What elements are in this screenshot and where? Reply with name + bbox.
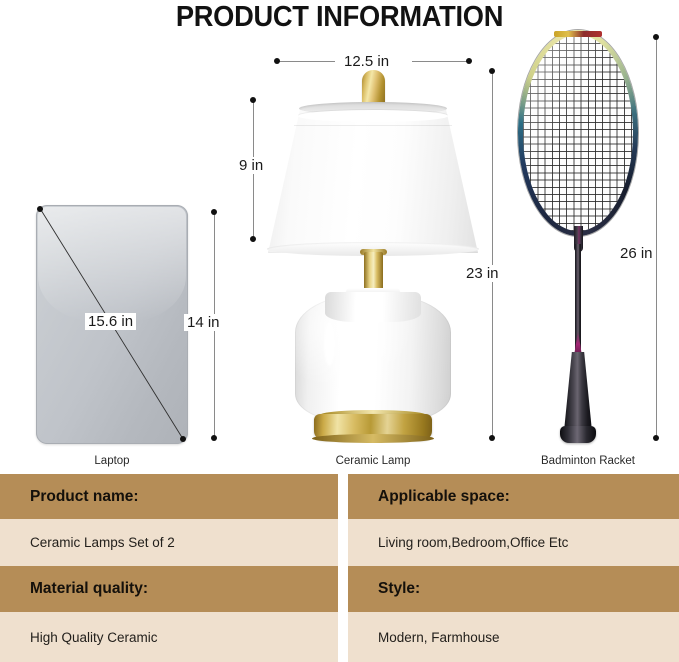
lamp-highlight-b	[346, 328, 354, 364]
racket-logo	[554, 31, 602, 37]
lamp-shade-seam	[294, 125, 452, 126]
ceramic-lamp-illustration	[268, 70, 478, 448]
racket-length-line	[656, 37, 657, 438]
badminton-racket-caption: Badminton Racket	[528, 455, 648, 467]
spec-table-column-left: Product name: Ceramic Lamps Set of 2 Mat…	[0, 474, 338, 662]
lamp-harp	[364, 252, 383, 292]
spec-label-style: Style:	[348, 566, 679, 612]
spec-label-applicable-space: Applicable space:	[348, 474, 679, 519]
laptop-height-label: 14 in	[184, 314, 223, 331]
lamp-shade-top-rim	[298, 110, 448, 122]
lamp-width-line-left	[277, 61, 335, 62]
lamp-gold-base-lip	[312, 434, 434, 443]
spec-label-material-quality: Material quality:	[0, 566, 338, 612]
laptop-height-dot-top	[211, 209, 217, 215]
laptop-caption: Laptop	[52, 455, 172, 467]
lamp-shade-height-dot-bottom	[250, 236, 256, 242]
lamp-ceramic-neck	[325, 292, 421, 322]
spec-table-column-right: Applicable space: Living room,Bedroom,Of…	[348, 474, 679, 662]
lamp-width-label: 12.5 in	[341, 53, 392, 70]
lamp-finial	[362, 70, 385, 105]
lamp-shade-height-dot-top	[250, 97, 256, 103]
spec-value-style: Modern, Farmhouse	[348, 612, 679, 662]
lamp-total-height-label: 23 in	[463, 265, 502, 282]
racket-head	[518, 30, 638, 236]
spec-table: Product name: Ceramic Lamps Set of 2 Mat…	[0, 474, 679, 662]
lamp-shade-height-label: 9 in	[236, 157, 266, 174]
lamp-width-line-right	[412, 61, 468, 62]
lamp-width-dot-right	[466, 58, 472, 64]
lamp-width-dot-left	[274, 58, 280, 64]
racket-length-dot-bottom	[653, 435, 659, 441]
racket-string-bed	[523, 35, 633, 231]
spec-value-material-quality: High Quality Ceramic	[0, 612, 338, 662]
badminton-racket-illustration	[512, 30, 644, 442]
lamp-total-height-dot-top	[489, 68, 495, 74]
ceramic-lamp-caption: Ceramic Lamp	[313, 455, 433, 467]
lamp-total-height-line	[492, 71, 493, 438]
laptop-height-dot-bottom	[211, 435, 217, 441]
racket-length-label: 26 in	[617, 245, 656, 262]
spec-label-product-name: Product name:	[0, 474, 338, 519]
lamp-highlight-a	[324, 322, 335, 366]
lamp-highlight-c	[338, 382, 347, 412]
lamp-total-height-dot-bottom	[489, 435, 495, 441]
spec-value-product-name: Ceramic Lamps Set of 2	[0, 519, 338, 566]
page-title: PRODUCT INFORMATION	[20, 0, 658, 34]
laptop-diagonal-dot-top	[37, 206, 43, 212]
laptop-diagonal-label: 15.6 in	[85, 313, 136, 330]
laptop-diagonal-dot-bottom	[180, 436, 186, 442]
spec-value-applicable-space: Living room,Bedroom,Office Etc	[348, 519, 679, 566]
racket-grip-cap	[560, 426, 596, 443]
lamp-shade	[268, 107, 478, 253]
racket-string-gloss	[523, 35, 633, 231]
racket-length-dot-top	[653, 34, 659, 40]
